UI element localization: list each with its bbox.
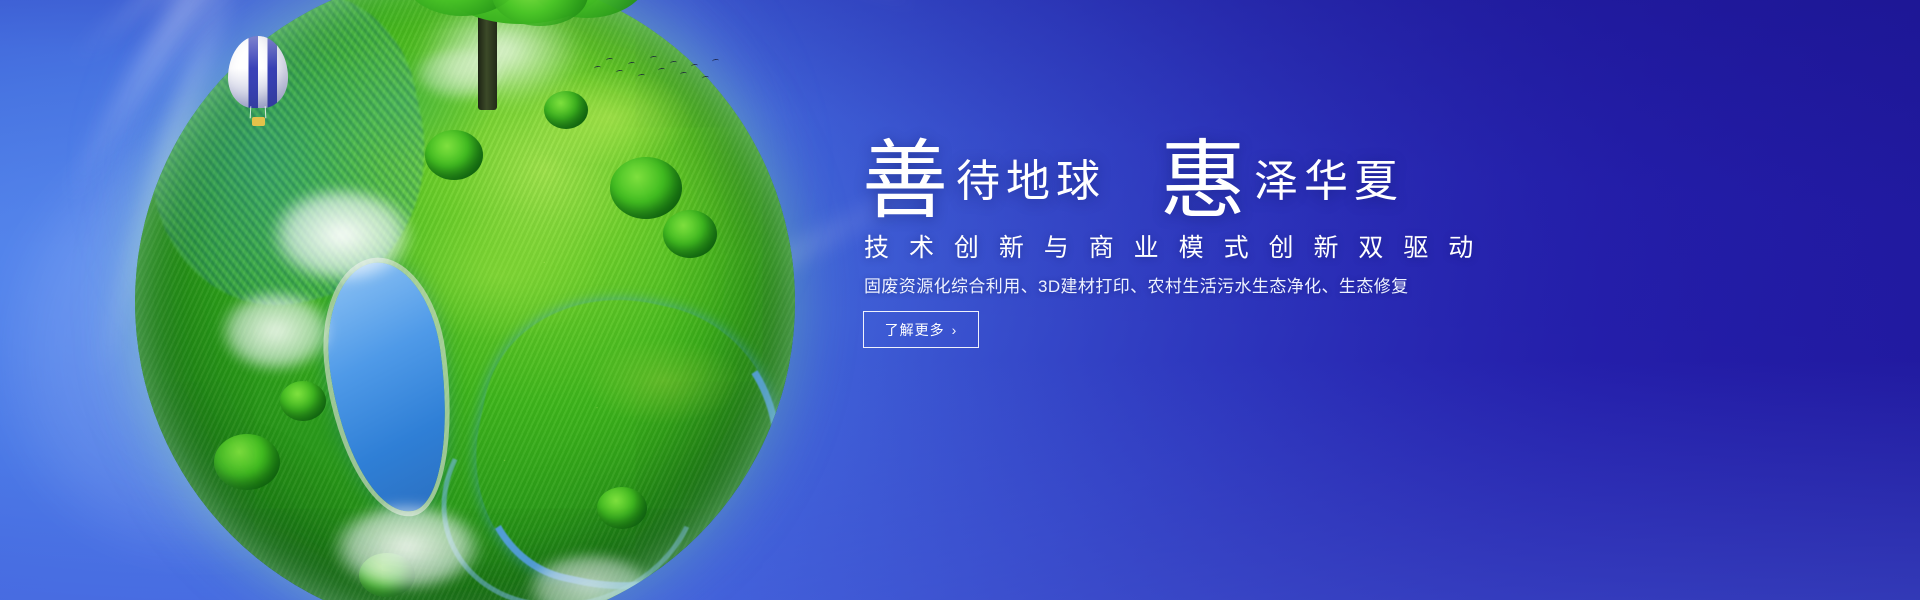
- bird-icon: [594, 66, 601, 71]
- bird-icon: [658, 68, 665, 73]
- hero-banner: 善待地球惠泽华夏 技 术 创 新 与 商 业 模 式 创 新 双 驱 动 固废资…: [0, 0, 1920, 600]
- balloon-envelope: [228, 36, 288, 108]
- headline-text-zehuaxia: 泽华夏: [1254, 157, 1404, 206]
- learn-more-label: 了解更多: [885, 320, 945, 340]
- headline-char-shan: 善: [862, 133, 948, 229]
- bird-icon: [691, 64, 698, 69]
- headline-text-daidiqiu: 待地球: [956, 157, 1106, 206]
- bird-icon: [680, 72, 687, 77]
- bird-icon: [616, 70, 623, 75]
- learn-more-button[interactable]: 了解更多 ›: [863, 311, 979, 348]
- bird-icon: [702, 76, 709, 81]
- chevron-right-icon: ›: [952, 323, 958, 337]
- bird-icon: [712, 59, 719, 64]
- bird-icon: [606, 58, 613, 63]
- headline-char-hui: 惠: [1160, 133, 1246, 229]
- bird-icon: [650, 56, 657, 61]
- bird-icon: [638, 74, 645, 79]
- hot-air-balloon: [228, 36, 288, 128]
- balloon-basket: [252, 117, 265, 126]
- bird-icon: [628, 62, 635, 67]
- description: 固废资源化综合利用、3D建材打印、农村生活污水生态净化、生态修复: [864, 272, 1409, 297]
- subtitle: 技 术 创 新 与 商 业 模 式 创 新 双 驱 动: [864, 228, 1480, 264]
- banner-content: 善待地球惠泽华夏 技 术 创 新 与 商 业 模 式 创 新 双 驱 动 固废资…: [862, 0, 1622, 600]
- bird-icon: [670, 61, 677, 66]
- headline: 善待地球惠泽华夏: [862, 138, 1404, 224]
- bird-flock: [592, 52, 722, 88]
